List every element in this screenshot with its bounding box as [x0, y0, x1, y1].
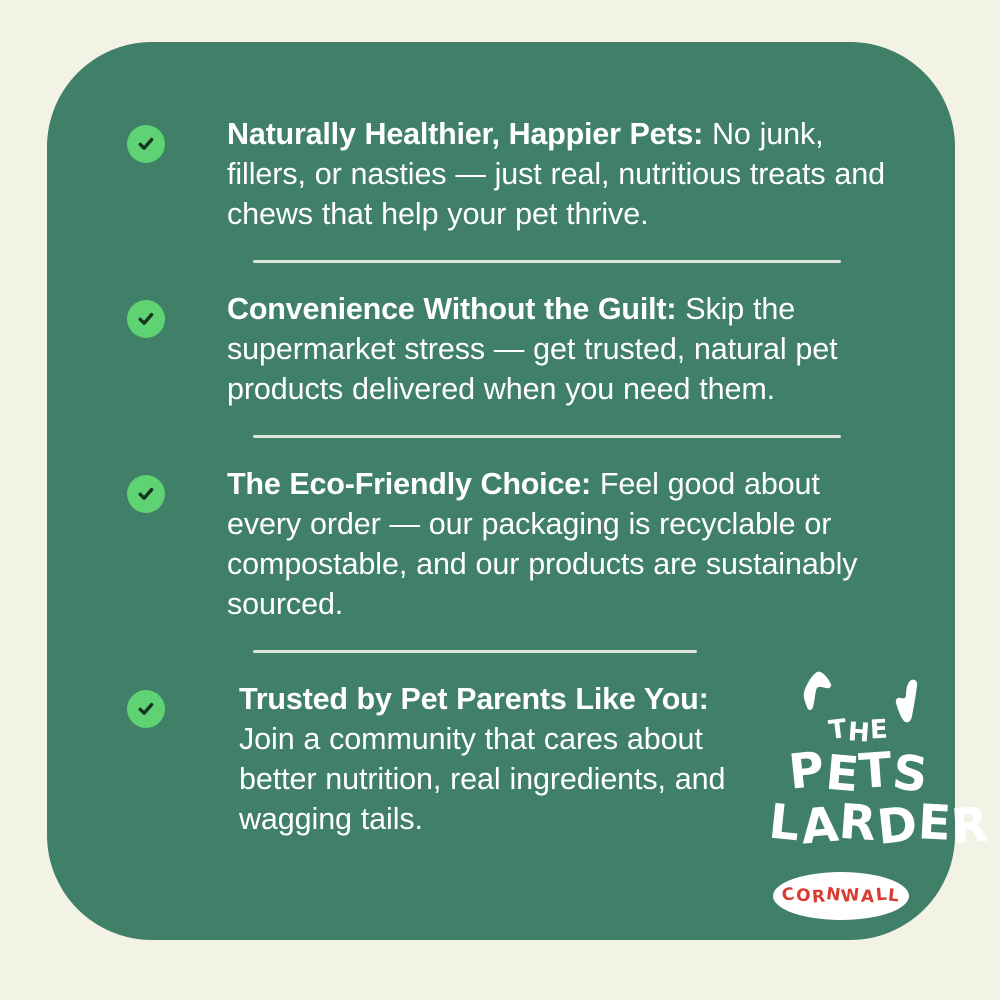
check-circle-icon	[127, 300, 165, 338]
brand-logo: THE PETS LARDER CORNWALL	[769, 664, 949, 932]
benefit-heading-2: Convenience Without the Guilt:	[227, 292, 676, 326]
promo-card-canvas: Naturally Healthier, Happier Pets: No ju…	[0, 0, 1000, 1000]
benefit-text-2: Convenience Without the Guilt: Skip the …	[227, 289, 887, 409]
cornwall-badge: CORNWALL	[773, 872, 909, 920]
logo-line-the-text: THE	[829, 716, 889, 746]
benefit-heading-4: Trusted by Pet Parents Like You:	[239, 682, 709, 716]
benefit-text-3: The Eco-Friendly Choice: Feel good about…	[227, 464, 887, 624]
divider-3	[253, 650, 697, 653]
check-circle-icon	[127, 125, 165, 163]
logo-line-larder-text: LARDER	[769, 796, 989, 852]
benefit-item-3: The Eco-Friendly Choice: Feel good about…	[127, 464, 887, 624]
benefit-text-4: Trusted by Pet Parents Like You: Join a …	[239, 679, 739, 839]
check-circle-icon	[127, 690, 165, 728]
benefit-heading-1: Naturally Healthier, Happier Pets:	[227, 117, 703, 151]
benefit-item-1: Naturally Healthier, Happier Pets: No ju…	[127, 114, 887, 234]
divider-1	[253, 260, 841, 263]
logo-line-larder: LARDER	[769, 796, 949, 852]
benefit-body-4: Join a community that cares about better…	[239, 722, 725, 836]
cornwall-badge-text: CORNWALL	[782, 886, 899, 906]
logo-line-pets: PETS	[769, 744, 949, 800]
check-circle-icon	[127, 475, 165, 513]
logo-line-pets-text: PETS	[789, 744, 928, 800]
divider-2	[253, 435, 841, 438]
ear-shape-icon	[801, 670, 835, 716]
benefits-card: Naturally Healthier, Happier Pets: No ju…	[47, 42, 955, 940]
benefit-heading-3: The Eco-Friendly Choice:	[227, 467, 591, 501]
logo-line-the: THE	[769, 716, 949, 746]
benefit-item-2: Convenience Without the Guilt: Skip the …	[127, 289, 887, 409]
benefit-text-1: Naturally Healthier, Happier Pets: No ju…	[227, 114, 887, 234]
